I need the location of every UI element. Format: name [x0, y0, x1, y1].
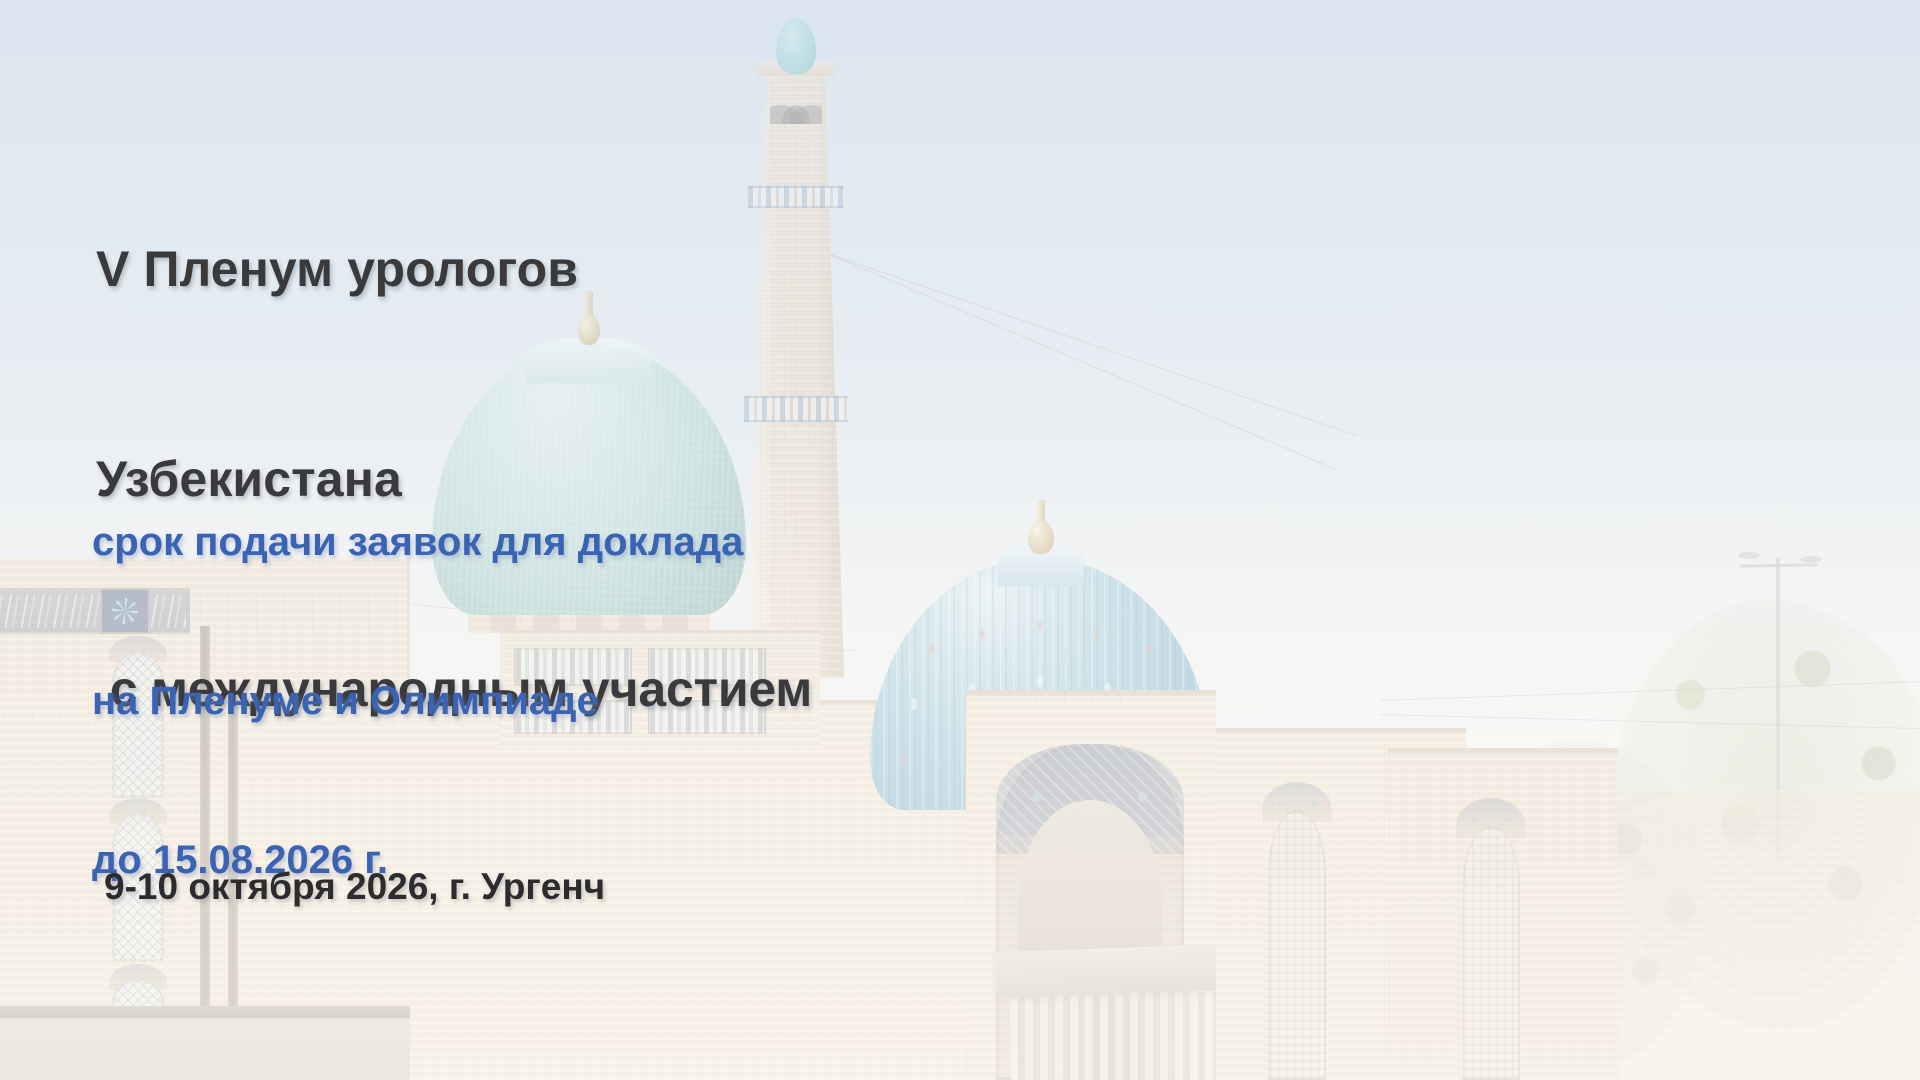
- gold-finial-icon: [1028, 500, 1054, 564]
- event-date-location: 9-10 октября 2026, г. Ургенч: [104, 866, 605, 908]
- conference-poster: V Пленум урологов Узбекистана с междунар…: [0, 0, 1920, 1080]
- entrance-curtains: [1010, 992, 1220, 1080]
- terrace-platform: [0, 1018, 410, 1080]
- street-lamp-head: [1738, 552, 1760, 559]
- deadline-line-2: на Пленуме и Олимпиаде: [92, 675, 743, 728]
- title-line-1: V Пленум урологов: [96, 234, 812, 304]
- overhead-wire: [790, 240, 1358, 436]
- honeycomb-niche: [1268, 810, 1326, 1080]
- entrance-canopy: [996, 944, 1234, 998]
- deadline-line-1: срок подачи заявок для доклада: [92, 516, 743, 569]
- street-lamp-head: [1800, 556, 1822, 563]
- far-right-wall: [1618, 790, 1920, 1080]
- honeycomb-niche: [1462, 826, 1520, 1080]
- overhead-wire: [820, 250, 1336, 470]
- minaret-dome-icon: [776, 18, 816, 74]
